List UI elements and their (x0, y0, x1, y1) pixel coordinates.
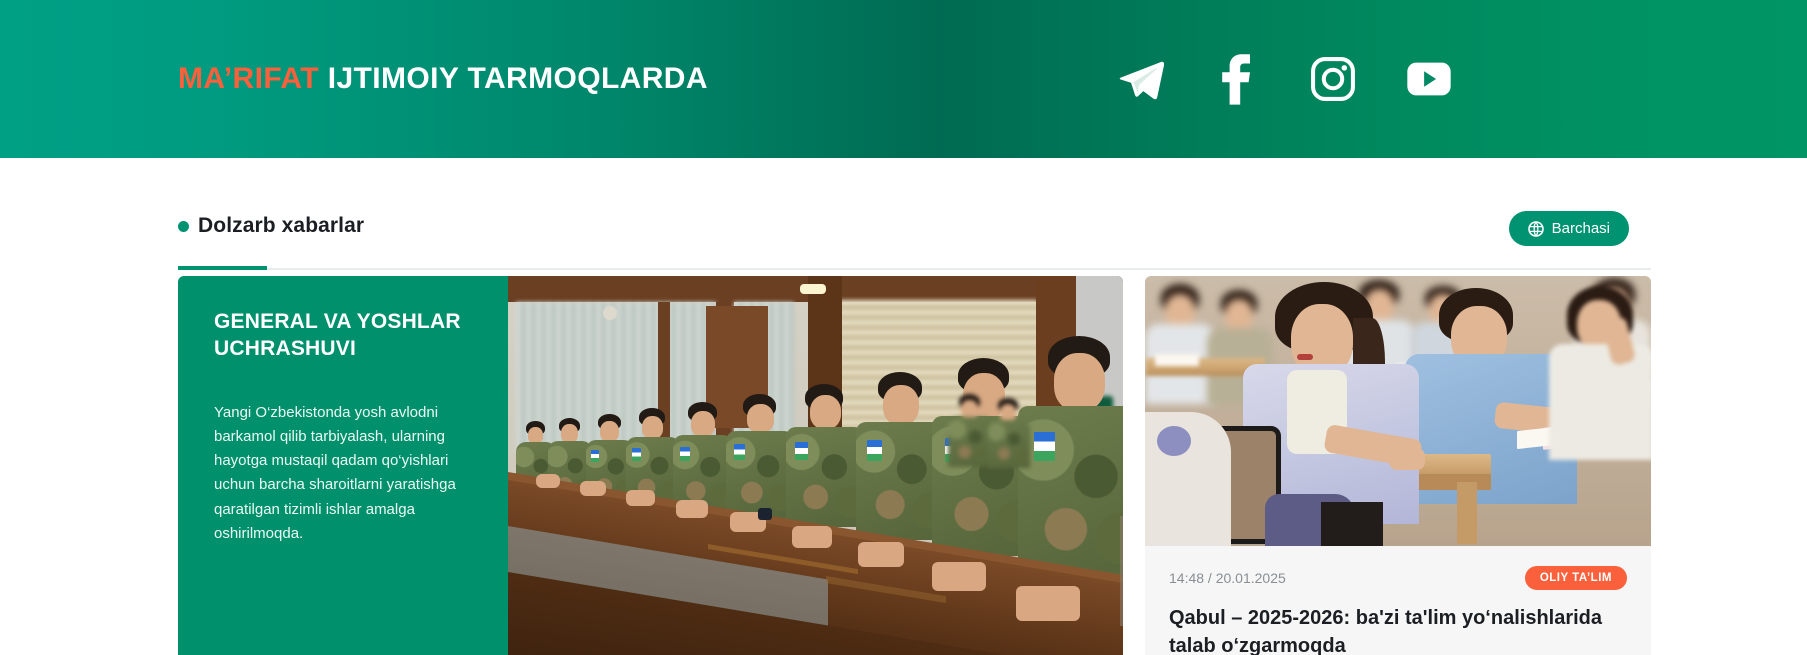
news-card-meta: 14:48 / 20.01.2025 OLIY TA’LIM (1169, 566, 1627, 590)
section-underline (178, 266, 267, 270)
section-title: Dolzarb xabarlar (198, 214, 364, 238)
news-cards-row: GENERAL VA YOSHLAR UCHRASHUVI Yangi O‘zb… (178, 276, 1651, 655)
news-card-title: Qabul – 2025-2026: ba'zi ta'lim yo‘nalis… (1169, 604, 1627, 655)
view-all-label: Barchasi (1552, 220, 1610, 237)
site-header: MA’RIFAT IJTIMOIY TARMOQLARDA (0, 0, 1807, 158)
featured-title: GENERAL VA YOSHLAR UCHRASHUVI (214, 308, 472, 363)
globe-icon (1528, 221, 1544, 237)
brand-plain-text: IJTIMOIY TARMOQLARDA (328, 62, 708, 95)
section-title-wrap: Dolzarb xabarlar (178, 208, 1651, 238)
news-card-body: 14:48 / 20.01.2025 OLIY TA’LIM Qabul – 2… (1145, 546, 1651, 655)
instagram-icon[interactable] (1310, 56, 1356, 102)
facebook-icon[interactable] (1214, 56, 1260, 102)
news-card-date: 14:48 / 20.01.2025 (1169, 570, 1286, 586)
section-dot-icon (178, 221, 189, 232)
news-card[interactable]: 14:48 / 20.01.2025 OLIY TA’LIM Qabul – 2… (1145, 276, 1651, 655)
featured-image (508, 276, 1123, 655)
featured-text-panel: GENERAL VA YOSHLAR UCHRASHUVI Yangi O‘zb… (178, 276, 508, 655)
site-brand[interactable]: MA’RIFAT IJTIMOIY TARMOQLARDA (178, 62, 708, 96)
youtube-icon[interactable] (1406, 56, 1452, 102)
brand-accent-text: MA’RIFAT (178, 62, 319, 95)
view-all-button[interactable]: Barchasi (1509, 211, 1629, 246)
featured-excerpt: Yangi O‘zbekistonda yosh avlodni barkamo… (214, 401, 472, 547)
section-header: Dolzarb xabarlar (178, 208, 1651, 270)
social-links (1118, 56, 1452, 102)
featured-news-card[interactable]: GENERAL VA YOSHLAR UCHRASHUVI Yangi O‘zb… (178, 276, 1123, 655)
telegram-icon[interactable] (1118, 56, 1164, 102)
news-card-category-badge[interactable]: OLIY TA’LIM (1525, 566, 1627, 590)
news-card-image (1145, 276, 1651, 546)
